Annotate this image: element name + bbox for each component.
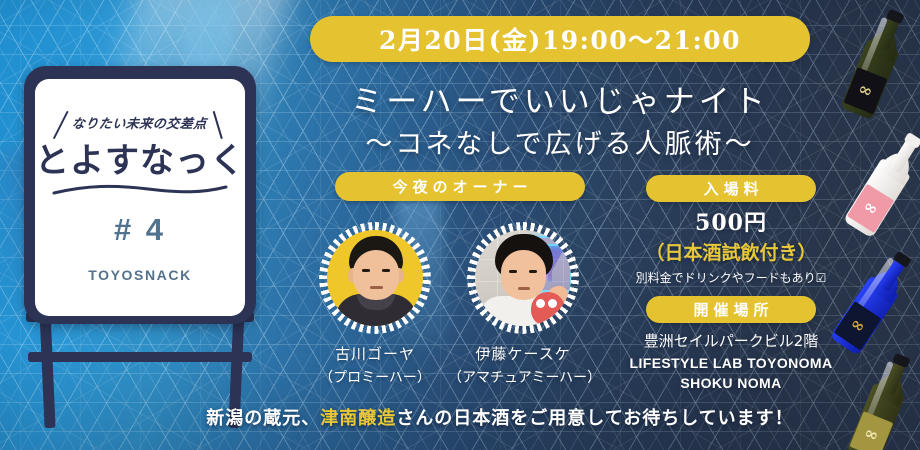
mascot-character-icon [531, 292, 565, 326]
owners-section-badge: 今夜のオーナー [335, 172, 585, 201]
event-date-text: 2月20日(金)19:00〜21:00 [379, 21, 741, 57]
fee-extra-note: 別料金でドリンクやフードもあり☑ [616, 269, 846, 286]
signboard-logo-text: とよすなっく [35, 144, 245, 178]
owner-card-2: 伊藤ケースケ （アマチュアミーハー） [448, 222, 598, 387]
avatar-mouth [370, 286, 383, 289]
owner-avatar-wrap-2 [467, 222, 579, 334]
owner-role: （アマチュアミーハー） [448, 367, 598, 387]
footer-brewery-highlight: 津南醸造 [320, 408, 396, 429]
venue-badge-label: 開催場所 [688, 299, 773, 320]
owner-name: 伊藤ケースケ [448, 343, 598, 364]
footer-suffix: さんの日本酒をご用意してお待ちしています！ [396, 408, 793, 429]
signboard-cross-bar [28, 352, 252, 362]
signboard-frame: なりたい未来の交差点 とよすなっく # 4 TOYOSNACK [24, 66, 256, 324]
fee-price: 500円 [616, 205, 846, 237]
signboard-tagline: なりたい未来の交差点 [71, 113, 208, 132]
owner-name: 古川ゴーヤ [300, 343, 450, 364]
signboard-wave-underline [52, 184, 228, 196]
venue-name-en: LIFESTYLE LAB TOYONOMA [616, 355, 846, 371]
fee-details: 500円 （日本酒試飲付き） 別料金でドリンクやフードもあり☑ [616, 205, 846, 286]
avatar-eye-right [529, 270, 537, 273]
avatar [327, 230, 423, 326]
fee-section-badge: 入場料 [646, 175, 816, 202]
fee-included: （日本酒試飲付き） [616, 238, 846, 265]
footer-prefix: 新潟の蔵元、 [206, 408, 320, 429]
signboard-leg-left [39, 310, 55, 428]
avatar-face [501, 250, 546, 300]
venue-room-en: SHOKU NOMA [616, 375, 846, 391]
owner-card-1: 古川ゴーヤ （プロミーハー） [300, 222, 450, 387]
signboard-issue-number: # 4 [114, 212, 166, 248]
event-title: ミーハーでいいじゃナイト [300, 76, 820, 121]
avatar-face [353, 250, 399, 300]
avatar-eye-right [382, 269, 390, 272]
signboard: なりたい未来の交差点 とよすなっく # 4 TOYOSNACK [24, 66, 256, 366]
footer-message: 新潟の蔵元、津南醸造さんの日本酒をご用意してお待ちしています！ [150, 404, 850, 430]
signboard-english-name: TOYOSNACK [88, 267, 192, 283]
owners-badge-label: 今夜のオーナー [387, 176, 532, 197]
venue-section-badge: 開催場所 [646, 296, 816, 323]
avatar-eye-left [362, 269, 370, 272]
avatar [475, 230, 571, 326]
owner-role: （プロミーハー） [300, 367, 450, 387]
venue-building: 豊洲セイルパークビル2階 [616, 330, 846, 351]
signboard-panel: なりたい未来の交差点 とよすなっく # 4 TOYOSNACK [35, 79, 245, 316]
avatar-eye-left [509, 270, 517, 273]
avatar-mouth [518, 287, 530, 290]
venue-details: 豊洲セイルパークビル2階 LIFESTYLE LAB TOYONOMA SHOK… [616, 330, 846, 391]
event-poster: なりたい未来の交差点 とよすなっく # 4 TOYOSNACK 2月20日(金)… [0, 0, 920, 450]
fee-badge-label: 入場料 [698, 178, 763, 199]
event-subtitle: 〜コネなしで広げる人脈術〜 [300, 122, 820, 161]
event-date-badge: 2月20日(金)19:00〜21:00 [310, 16, 810, 62]
owner-avatar-wrap-1 [319, 222, 431, 334]
